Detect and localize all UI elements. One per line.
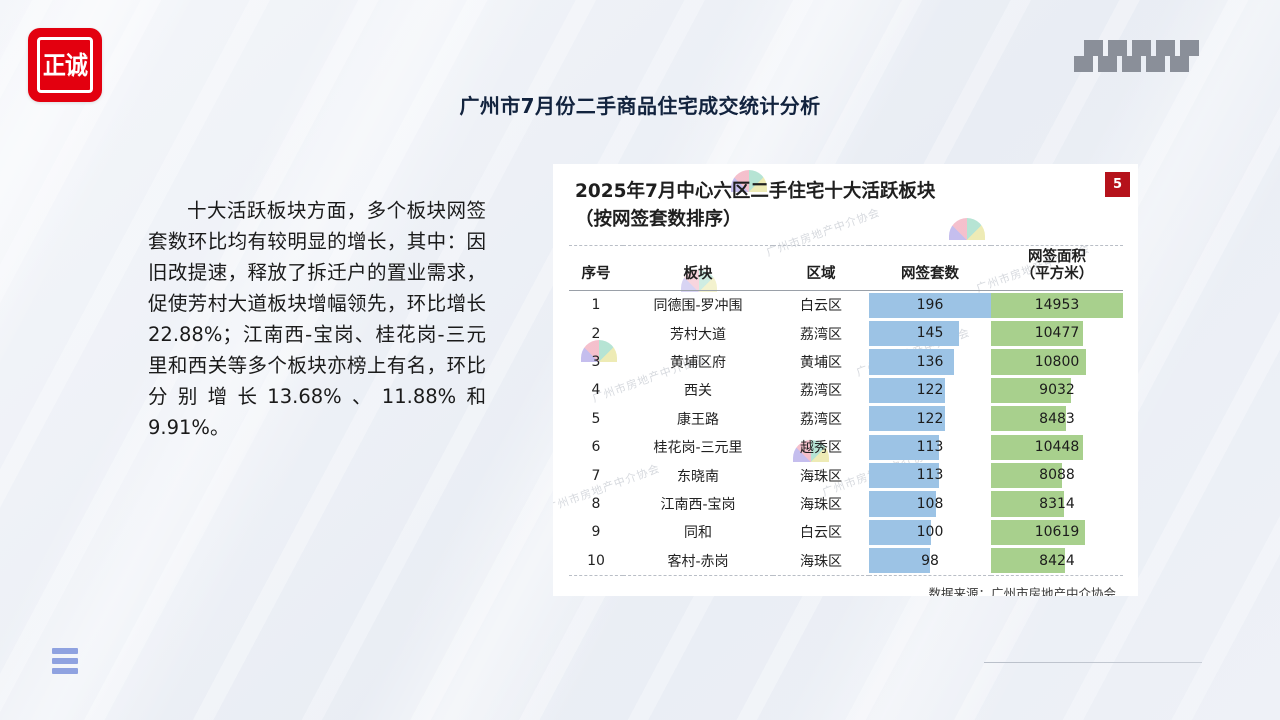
area-value: 8088 xyxy=(991,461,1123,489)
cell-index: 5 xyxy=(569,405,623,433)
table-row: 1 同德围-罗冲围 白云区 196 14953 xyxy=(569,291,1123,320)
cell-area: 10477 xyxy=(991,319,1123,347)
cell-index: 2 xyxy=(569,319,623,347)
cell-district: 荔湾区 xyxy=(773,405,869,433)
cell-plate: 康王路 xyxy=(623,405,773,433)
cell-deals: 108 xyxy=(869,490,991,518)
cell-deals: 100 xyxy=(869,518,991,546)
cell-plate: 西关 xyxy=(623,376,773,404)
cell-district: 海珠区 xyxy=(773,461,869,489)
deals-value: 113 xyxy=(869,461,991,489)
cell-area: 10800 xyxy=(991,348,1123,376)
cell-area: 14953 xyxy=(991,291,1123,320)
deals-value: 108 xyxy=(869,490,991,518)
cell-deals: 122 xyxy=(869,405,991,433)
cell-district: 海珠区 xyxy=(773,490,869,518)
cell-index: 9 xyxy=(569,518,623,546)
table-row: 5 康王路 荔湾区 122 8483 xyxy=(569,405,1123,433)
cell-plate: 黄埔区府 xyxy=(623,348,773,376)
cell-deals: 136 xyxy=(869,348,991,376)
area-value: 8424 xyxy=(991,547,1123,575)
col-header-deals: 网签套数 xyxy=(869,246,991,291)
deals-value: 145 xyxy=(869,319,991,347)
cell-area: 10448 xyxy=(991,433,1123,461)
cell-district: 荔湾区 xyxy=(773,319,869,347)
deals-value: 113 xyxy=(869,433,991,461)
cell-area: 10619 xyxy=(991,518,1123,546)
cell-deals: 113 xyxy=(869,433,991,461)
chart-title-line2: （按网签套数排序） xyxy=(575,206,1003,234)
cell-plate: 同和 xyxy=(623,518,773,546)
cell-district: 越秀区 xyxy=(773,433,869,461)
table-head: 序号 板块 区域 网签套数 网签面积（平方米） xyxy=(569,246,1123,291)
table-row: 6 桂花岗-三元里 越秀区 113 10448 xyxy=(569,433,1123,461)
chart-source-note: 数据来源：广州市房地产中介协会 xyxy=(553,583,1116,596)
area-value: 10448 xyxy=(991,433,1123,461)
table-row: 4 西关 荔湾区 122 9032 xyxy=(569,376,1123,404)
cell-district: 海珠区 xyxy=(773,547,869,576)
cell-district: 荔湾区 xyxy=(773,376,869,404)
cell-plate: 东晓南 xyxy=(623,461,773,489)
cell-plate: 同德围-罗冲围 xyxy=(623,291,773,320)
cell-area: 8314 xyxy=(991,490,1123,518)
menu-bar-3 xyxy=(52,668,78,674)
table-body: 1 同德围-罗冲围 白云区 196 14953 2 芳村大道 荔湾区 xyxy=(569,291,1123,576)
menu-bar-2 xyxy=(52,658,78,664)
table-row: 8 江南西-宝岗 海珠区 108 8314 xyxy=(569,490,1123,518)
area-value: 10477 xyxy=(991,319,1123,347)
area-value: 14953 xyxy=(991,291,1123,319)
logo-inner-frame: 正诚 xyxy=(37,37,93,93)
cell-district: 白云区 xyxy=(773,518,869,546)
body-paragraph: 十大活跃板块方面，多个板块网签套数环比均有较明显的增长，其中：因旧改提速，释放了… xyxy=(148,195,486,443)
logo-text: 正诚 xyxy=(43,53,87,78)
col-header-area: 网签面积（平方米） xyxy=(991,246,1123,291)
deals-value: 98 xyxy=(869,547,991,575)
area-value: 9032 xyxy=(991,376,1123,404)
area-value: 10800 xyxy=(991,348,1123,376)
cell-index: 1 xyxy=(569,291,623,320)
cell-area: 8424 xyxy=(991,547,1123,576)
cell-area: 8483 xyxy=(991,405,1123,433)
footer-divider xyxy=(984,662,1202,663)
cell-index: 6 xyxy=(569,433,623,461)
cell-index: 7 xyxy=(569,461,623,489)
cell-area: 8088 xyxy=(991,461,1123,489)
area-value: 8483 xyxy=(991,405,1123,433)
checker-decoration-icon xyxy=(1074,40,1202,74)
deals-value: 100 xyxy=(869,518,991,546)
table-row: 2 芳村大道 荔湾区 145 10477 xyxy=(569,319,1123,347)
table-row: 3 黄埔区府 黄埔区 136 10800 xyxy=(569,348,1123,376)
ranking-table: 序号 板块 区域 网签套数 网签面积（平方米） 1 同德围-罗冲围 白云区 19… xyxy=(569,245,1123,576)
chart-title: 2025年7月中心六区二手住宅十大活跃板块 （按网签套数排序） xyxy=(553,164,1003,234)
area-value: 10619 xyxy=(991,518,1123,546)
cell-plate: 芳村大道 xyxy=(623,319,773,347)
cell-district: 黄埔区 xyxy=(773,348,869,376)
table-row: 7 东晓南 海珠区 113 8088 xyxy=(569,461,1123,489)
slide-canvas: 正诚 广州市7月份二手商品住宅成交统计分析 十大活跃板块方面，多个板块网签套数环… xyxy=(0,0,1280,720)
table-row: 9 同和 白云区 100 10619 xyxy=(569,518,1123,546)
col-header-index: 序号 xyxy=(569,246,623,291)
cell-index: 4 xyxy=(569,376,623,404)
deals-value: 136 xyxy=(869,348,991,376)
page-title: 广州市7月份二手商品住宅成交统计分析 xyxy=(0,90,1280,119)
chart-title-line1: 2025年7月中心六区二手住宅十大活跃板块 xyxy=(575,178,1003,206)
cell-district: 白云区 xyxy=(773,291,869,320)
cell-deals: 113 xyxy=(869,461,991,489)
cell-area: 9032 xyxy=(991,376,1123,404)
deals-value: 196 xyxy=(869,291,991,319)
deals-value: 122 xyxy=(869,405,991,433)
hamburger-list-icon[interactable] xyxy=(52,647,82,675)
cell-index: 10 xyxy=(569,547,623,576)
cell-index: 3 xyxy=(569,348,623,376)
cell-deals: 145 xyxy=(869,319,991,347)
cell-deals: 196 xyxy=(869,291,991,320)
chart-image-card: 广州市房地产中介协会 广州市房地产中介协会 广州市房地产中介协会 广州市房地产中… xyxy=(553,164,1138,596)
col-header-plate: 板块 xyxy=(623,246,773,291)
cell-deals: 98 xyxy=(869,547,991,576)
cell-plate: 客村-赤岗 xyxy=(623,547,773,576)
table-row: 10 客村-赤岗 海珠区 98 8424 xyxy=(569,547,1123,576)
cell-plate: 桂花岗-三元里 xyxy=(623,433,773,461)
col-header-district: 区域 xyxy=(773,246,869,291)
deals-value: 122 xyxy=(869,376,991,404)
page-number-badge: 5 xyxy=(1105,172,1130,197)
cell-plate: 江南西-宝岗 xyxy=(623,490,773,518)
menu-bar-1 xyxy=(52,648,78,654)
cell-index: 8 xyxy=(569,490,623,518)
area-value: 8314 xyxy=(991,490,1123,518)
cell-deals: 122 xyxy=(869,376,991,404)
